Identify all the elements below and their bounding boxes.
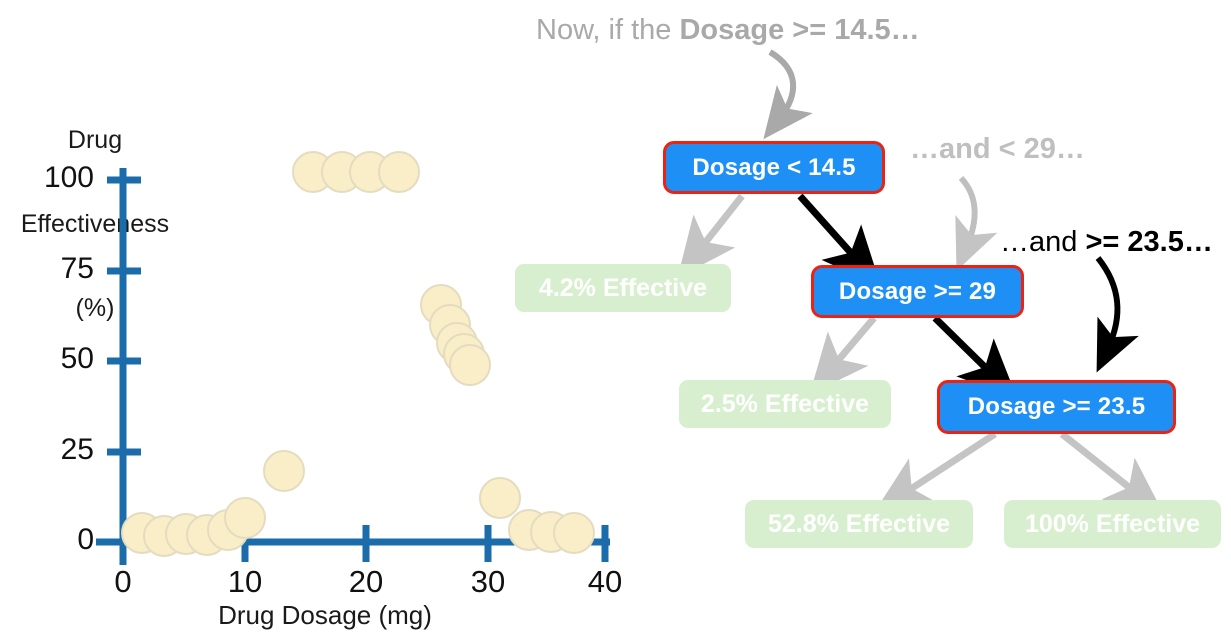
edge-root-right — [800, 196, 860, 263]
edge-root-left — [697, 196, 742, 253]
annotation-1-bold: Dosage >= 14.5… — [679, 14, 919, 46]
tree-node-dosage-ge-23-5[interactable]: Dosage >= 23.5 — [937, 380, 1176, 434]
edge-n2-left — [830, 318, 874, 370]
annotation-2-text: …and < 29… — [910, 133, 1085, 165]
annotation-arrow-2 — [961, 178, 975, 246]
edge-n2-right — [935, 318, 995, 377]
figure-canvas: Drug Effectiveness (%) — [0, 0, 1231, 644]
tree-leaf-2-5-effective[interactable]: 2.5% Effective — [679, 380, 891, 428]
edge-n3-left — [900, 434, 995, 496]
annotation-3-normal: …and — [1000, 226, 1085, 258]
annotation-lt-29: …and < 29… — [910, 133, 1085, 166]
annotation-3-bold: >= 23.5… — [1085, 226, 1212, 258]
annotation-1-normal: Now, if the — [536, 14, 679, 46]
annotation-arrow-3 — [1098, 258, 1117, 348]
edge-n3-right — [1062, 434, 1140, 496]
decision-tree: Now, if the Dosage >= 14.5… …and < 29… …… — [0, 0, 1231, 644]
tree-leaf-52-8-effective[interactable]: 52.8% Effective — [745, 500, 973, 548]
tree-node-dosage-lt-14-5[interactable]: Dosage < 14.5 — [663, 141, 885, 194]
tree-leaf-4-2-effective[interactable]: 4.2% Effective — [515, 264, 731, 312]
annotation-ge-23-5: …and >= 23.5… — [1000, 226, 1213, 259]
annotation-dosage-ge-14-5: Now, if the Dosage >= 14.5… — [536, 14, 920, 47]
tree-node-dosage-ge-29[interactable]: Dosage >= 29 — [811, 265, 1024, 318]
tree-leaf-100-effective[interactable]: 100% Effective — [1004, 500, 1221, 548]
annotation-arrow-1 — [770, 52, 793, 118]
